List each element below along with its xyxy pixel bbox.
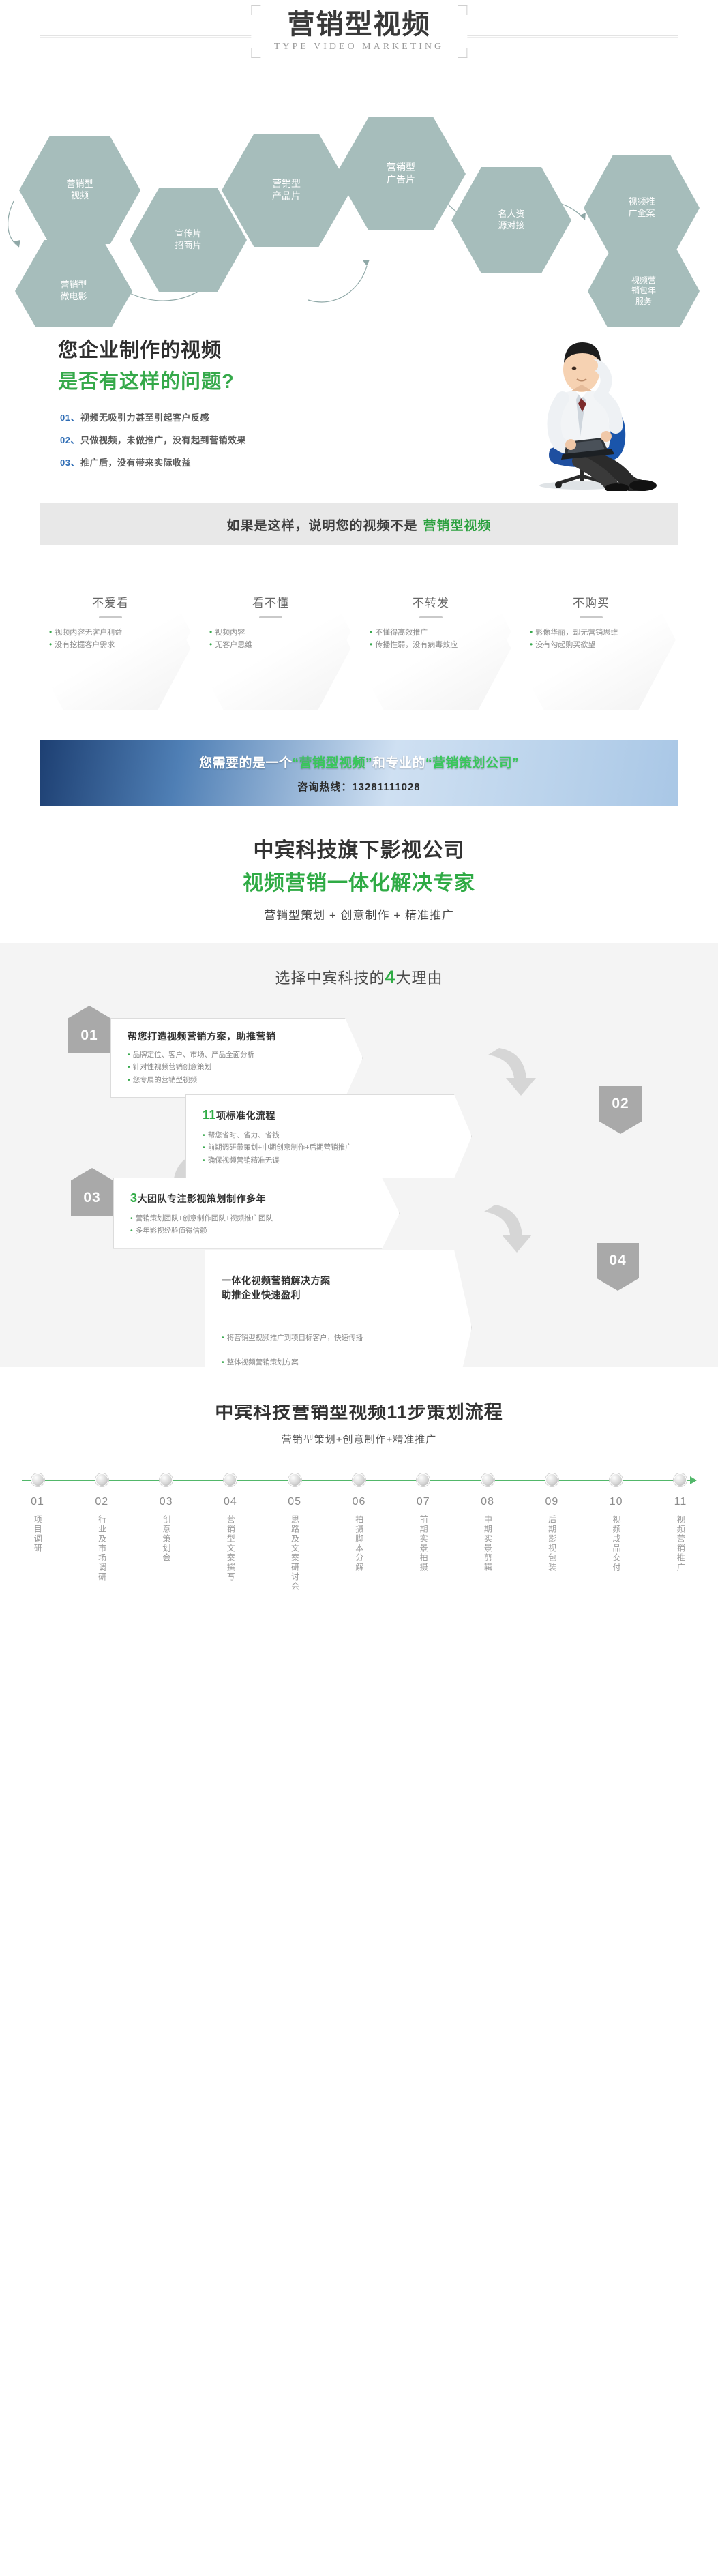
bullet-dot-icon: • xyxy=(49,639,52,651)
reason-card-02[interactable]: 11项标准化流程 •帮您省时、省力、省钱 •前期调研带策划+中期创意制作+后期营… xyxy=(185,1094,472,1178)
steps-section: 中宾科技营销型视频11步策划流程 营销型策划+创意制作+精准推广 01 项目调研… xyxy=(0,1367,718,1625)
problem-hex-card-2[interactable]: 看不懂 •视频内容 •无客户思维 xyxy=(186,570,355,710)
bullet-dot-icon: • xyxy=(203,1129,205,1141)
reason-heading-number: 3 xyxy=(130,1191,138,1205)
bullet-dot-icon: • xyxy=(222,1332,224,1344)
list-item: •品牌定位、客户、市场、产品全面分析 xyxy=(128,1049,335,1061)
reasons-section: 选择中宾科技的4大理由 01 帮您打造视频营销方案，助推营销 •品牌定位、客户、… xyxy=(0,943,718,1367)
bullet-text: 不懂得高效推广 xyxy=(375,627,428,639)
corner-bracket-icon xyxy=(458,5,467,15)
step-item-04[interactable]: 04 营销型文案撰写 xyxy=(209,1473,252,1595)
bullet-dot-icon: • xyxy=(530,639,533,651)
bullet-dot-icon: • xyxy=(130,1225,133,1237)
problem-number: 02、 xyxy=(60,433,80,446)
bullet-text: 品牌定位、客户、市场、产品全面分析 xyxy=(133,1049,255,1061)
bullet-text: 视频内容 xyxy=(215,627,245,639)
divider xyxy=(419,616,443,618)
step-number: 06 xyxy=(338,1496,380,1508)
page-subtitle: TYPE VIDEO MARKETING xyxy=(274,42,444,53)
hex-label: 视频营销包年服务 xyxy=(627,275,660,307)
page-title: 营销型视频 xyxy=(274,10,444,40)
hex-label: 宣传片招商片 xyxy=(170,228,205,251)
badge-number: 03 xyxy=(83,1190,100,1206)
list-item: •帮您省时、省力、省钱 xyxy=(203,1129,444,1141)
reason-card-01[interactable]: 帮您打造视频营销方案，助推营销 •品牌定位、客户、市场、产品全面分析 •针对性视… xyxy=(110,1018,363,1098)
cta-headline: 您需要的是一个“营销型视频”和专业的“营销策划公司” xyxy=(199,753,519,771)
bullet-dot-icon: • xyxy=(370,627,372,639)
step-node-icon xyxy=(545,1473,558,1486)
problem-hex-card-3[interactable]: 不转发 •不懂得高效推广 •传播性弱，没有病毒效应 xyxy=(346,570,515,710)
step-number: 03 xyxy=(145,1496,188,1508)
hex-label: 名人资源对接 xyxy=(494,209,528,231)
header-title-box: 营销型视频 TYPE VIDEO MARKETING xyxy=(251,5,467,58)
hex-label: 营销型微电影 xyxy=(56,280,91,302)
bullet-dot-icon: • xyxy=(209,639,212,651)
list-item: •没有挖掘客户需求 xyxy=(49,639,172,651)
list-item: •多年影视经验值得信赖 xyxy=(130,1225,372,1237)
problem-hex-title: 不购买 xyxy=(530,593,653,610)
problem-text: 只做视频，未做推广，没有起到营销效果 xyxy=(80,433,246,446)
bullet-dot-icon: • xyxy=(128,1049,130,1061)
step-item-02[interactable]: 02 行业及市场调研 xyxy=(80,1473,123,1595)
badge-number: 01 xyxy=(80,1028,98,1044)
bullet-text: 将营销型视频推广到项目标客户，快速传播 xyxy=(227,1332,363,1344)
list-item: •无客户思维 xyxy=(209,639,332,651)
step-node-icon xyxy=(674,1473,687,1486)
step-label: 视频营销推广 xyxy=(674,1515,687,1572)
hex-service-1[interactable]: 营销型视频 xyxy=(19,136,140,244)
bullet-dot-icon: • xyxy=(203,1154,205,1167)
step-label: 中期实景剪辑 xyxy=(481,1515,494,1572)
problem-hex-title: 不爱看 xyxy=(49,593,172,610)
step-item-09[interactable]: 09 后期影视包装 xyxy=(530,1473,573,1595)
corner-bracket-icon xyxy=(251,5,260,15)
cta-highlight-1: “营销型视频” xyxy=(292,756,372,770)
reason-bullets: •帮您省时、省力、省钱 •前期调研带策划+中期创意制作+后期营销推广 •确保视频… xyxy=(203,1129,444,1167)
reason-heading: 3大团队专注影视策划制作多年 xyxy=(130,1189,372,1208)
problem-text: 视频无吸引力甚至引起客户反感 xyxy=(80,410,209,423)
list-item: •前期调研带策划+中期创意制作+后期营销推广 xyxy=(203,1141,444,1154)
businessman-illustration-icon xyxy=(479,327,677,491)
step-node-icon xyxy=(353,1473,365,1486)
corner-bracket-icon xyxy=(458,48,467,58)
step-label: 思路及文案研讨会 xyxy=(288,1515,301,1591)
step-item-06[interactable]: 06 拍摄脚本分解 xyxy=(338,1473,380,1595)
list-item: •您专属的营销型视频 xyxy=(128,1074,335,1086)
problem-hex-card-4[interactable]: 不购买 •影像华丽，却无营销思维 •没有勾起购买欲望 xyxy=(507,570,676,710)
reason-card-03[interactable]: 3大团队专注影视策划制作多年 •营销策划团队+创意制作团队+视频推广团队 •多年… xyxy=(113,1178,400,1249)
bullet-dot-icon: • xyxy=(222,1356,224,1368)
step-label: 后期影视包装 xyxy=(545,1515,558,1572)
divider xyxy=(99,616,122,618)
step-item-05[interactable]: 05 思路及文案研讨会 xyxy=(273,1473,316,1595)
bullet-dot-icon: • xyxy=(128,1061,130,1073)
problem-section: 您企业制作的视频 是否有这样的问题? 01、 视频无吸引力甚至引起客户反感 02… xyxy=(0,327,718,491)
company-line1: 中宾科技旗下影视公司 xyxy=(0,833,718,863)
step-node-icon xyxy=(31,1473,44,1486)
problem-hex-card-1[interactable]: 不爱看 •视频内容无客户利益 •没有挖掘客户需求 xyxy=(26,570,195,710)
reasons-title: 选择中宾科技的4大理由 xyxy=(0,966,718,988)
step-node-icon xyxy=(288,1473,301,1486)
bullet-text: 多年影视经验值得信赖 xyxy=(136,1225,207,1237)
corner-bracket-icon xyxy=(251,48,260,58)
hex-label: 视频推广全案 xyxy=(624,196,659,219)
bullet-text: 帮您省时、省力、省钱 xyxy=(208,1129,280,1141)
list-item: •整体视频营销策划方案 xyxy=(222,1356,444,1368)
hex-service-4[interactable]: 营销型广告片 xyxy=(336,117,466,230)
bullet-text: 针对性视频营销创意策划 xyxy=(133,1061,212,1073)
step-number: 09 xyxy=(530,1496,573,1508)
company-section: 中宾科技旗下影视公司 视频营销一体化解决专家 营销型策划 + 创意制作 + 精准… xyxy=(0,806,718,943)
badge-number: 02 xyxy=(612,1096,629,1112)
list-item: •将营销型视频推广到项目标客户，快速传播 xyxy=(222,1332,444,1344)
steps-row: 01 项目调研 02 行业及市场调研 03 创意策划会 04 营销型文案撰写 xyxy=(16,1473,702,1595)
bullet-text: 无客户思维 xyxy=(215,639,252,651)
grey-banner-section: 如果是这样，说明您的视频不是 营销型视频 xyxy=(0,503,718,545)
cta-hotline[interactable]: 咨询热线：13281111028 xyxy=(297,779,420,794)
reason-bullets: •品牌定位、客户、市场、产品全面分析 •针对性视频营销创意策划 •您专属的营销型… xyxy=(128,1049,335,1086)
bullet-text: 影像华丽，却无营销思维 xyxy=(535,627,618,639)
step-label: 创意策划会 xyxy=(160,1515,173,1563)
steps-track: 01 项目调研 02 行业及市场调研 03 创意策划会 04 营销型文案撰写 xyxy=(16,1473,702,1595)
step-number: 08 xyxy=(466,1496,509,1508)
list-item: •不懂得高效推广 xyxy=(370,627,492,639)
step-item-11[interactable]: 11 视频营销推广 xyxy=(659,1473,702,1595)
company-line2: 视频营销一体化解决专家 xyxy=(0,866,718,896)
list-item: •营销策划团队+创意制作团队+视频推广团队 xyxy=(130,1212,372,1225)
bullet-dot-icon: • xyxy=(49,627,52,639)
bullet-text: 您专属的营销型视频 xyxy=(133,1074,198,1086)
bullet-text: 没有挖掘客户需求 xyxy=(55,639,115,651)
step-number: 04 xyxy=(209,1496,252,1508)
step-node-icon xyxy=(224,1473,237,1486)
step-node-icon xyxy=(417,1473,430,1486)
bullet-text: 前期调研带策划+中期创意制作+后期营销推广 xyxy=(208,1141,353,1154)
service-hex-cloud: 营销型视频 宣传片招商片 营销型产品片 营销型广告片 名人资源对接 视频推广全案… xyxy=(0,95,718,327)
list-item: •视频内容 xyxy=(209,627,332,639)
list-item: •视频内容无客户利益 xyxy=(49,627,172,639)
problem-text: 推广后，没有带来实际收益 xyxy=(80,455,191,468)
company-line3: 营销型策划 + 创意制作 + 精准推广 xyxy=(0,905,718,923)
businessman-photo xyxy=(479,327,677,491)
step-number: 07 xyxy=(402,1496,445,1508)
bullet-text: 没有勾起购买欲望 xyxy=(535,639,595,651)
landing-page: 营销型视频 TYPE VIDEO MARKETING xyxy=(0,0,718,1625)
step-label: 视频成品交付 xyxy=(610,1515,623,1572)
bullet-dot-icon: • xyxy=(203,1141,205,1154)
grey-banner-text: 如果是这样，说明您的视频不是 xyxy=(226,515,417,534)
bullet-dot-icon: • xyxy=(370,639,372,651)
step-number: 01 xyxy=(16,1496,59,1508)
reasons-title-pre: 选择中宾科技的 xyxy=(275,970,385,987)
hex-label: 营销型视频 xyxy=(62,179,97,201)
step-label: 项目调研 xyxy=(31,1515,44,1553)
list-item: •传播性弱，没有病毒效应 xyxy=(370,639,492,651)
step-item-03[interactable]: 03 创意策划会 xyxy=(145,1473,188,1595)
cta-mid: 和专业的 xyxy=(372,756,425,770)
hex-label: 营销型产品片 xyxy=(268,178,305,203)
bullet-text: 整体视频营销策划方案 xyxy=(227,1356,299,1368)
bullet-dot-icon: • xyxy=(130,1212,133,1225)
cta-pre: 您需要的是一个 xyxy=(199,756,293,770)
cta-highlight-2: “营销策划公司” xyxy=(425,756,519,770)
divider xyxy=(580,616,603,618)
reason-heading: 帮您打造视频营销方案，助推营销 xyxy=(128,1030,335,1044)
bullet-text: 营销策划团队+创意制作团队+视频推广团队 xyxy=(136,1212,273,1225)
reason-heading: 一体化视频营销解决方案 助推企业快速盈利 xyxy=(222,1274,444,1302)
reason-bullets: •营销策划团队+创意制作团队+视频推广团队 •多年影视经验值得信赖 xyxy=(130,1212,372,1238)
reason-card-04[interactable]: 一体化视频营销解决方案 助推企业快速盈利 •将营销型视频推广到项目标客户，快速传… xyxy=(205,1250,472,1405)
reason-bullets: •将营销型视频推广到项目标客户，快速传播 •整体视频营销策划方案 xyxy=(222,1319,444,1381)
problem-number: 03、 xyxy=(60,455,80,468)
problem-hex-group: 不爱看 •视频内容无客户利益 •没有挖掘客户需求 看不懂 •视频内容 •无客户思… xyxy=(0,563,718,740)
step-label: 行业及市场调研 xyxy=(95,1515,108,1582)
step-node-icon xyxy=(160,1473,173,1486)
step-label: 营销型文案撰写 xyxy=(224,1515,237,1582)
reason-heading: 11项标准化流程 xyxy=(203,1106,444,1124)
grey-banner: 如果是这样，说明您的视频不是 营销型视频 xyxy=(40,503,678,545)
page-header: 营销型视频 TYPE VIDEO MARKETING xyxy=(0,0,718,95)
step-number: 05 xyxy=(273,1496,316,1508)
reasons-cards-wrap: 01 帮您打造视频营销方案，助推营销 •品牌定位、客户、市场、产品全面分析 •针… xyxy=(0,1006,718,1326)
badge-number: 04 xyxy=(609,1253,626,1269)
step-item-07[interactable]: 07 前期实景拍摄 xyxy=(402,1473,445,1595)
reason-heading-text: 项标准化流程 xyxy=(216,1110,275,1121)
bullet-text: 视频内容无客户利益 xyxy=(55,627,122,639)
list-item: •针对性视频营销创意策划 xyxy=(128,1061,335,1073)
step-label: 拍摄脚本分解 xyxy=(353,1515,365,1572)
list-item: •没有勾起购买欲望 xyxy=(530,639,653,651)
step-label: 前期实景拍摄 xyxy=(417,1515,430,1572)
reason-heading-text: 大团队专注影视策划制作多年 xyxy=(138,1193,267,1204)
list-item: •影像华丽，却无营销思维 xyxy=(530,627,653,639)
bullet-text: 确保视频营销精准无误 xyxy=(208,1154,280,1167)
hex-label: 营销型广告片 xyxy=(383,162,419,186)
step-node-icon xyxy=(610,1473,623,1486)
step-number: 11 xyxy=(659,1496,702,1508)
hex-service-2[interactable]: 宣传片招商片 xyxy=(130,188,247,292)
bullet-text: 传播性弱，没有病毒效应 xyxy=(375,639,458,651)
problem-hex-title: 看不懂 xyxy=(209,593,332,610)
bullet-dot-icon: • xyxy=(530,627,533,639)
reasons-title-post: 大理由 xyxy=(396,970,443,987)
list-item: •确保视频营销精准无误 xyxy=(203,1154,444,1167)
grey-banner-highlight: 营销型视频 xyxy=(423,515,492,534)
bullet-dot-icon: • xyxy=(209,627,212,639)
reason-heading-number: 11 xyxy=(203,1108,216,1122)
bullet-dot-icon: • xyxy=(128,1074,130,1086)
reasons-title-number: 4 xyxy=(385,967,395,987)
cta-banner[interactable]: 您需要的是一个“营销型视频”和专业的“营销策划公司” 咨询热线：13281111… xyxy=(40,740,678,806)
step-node-icon xyxy=(481,1473,494,1486)
step-item-10[interactable]: 10 视频成品交付 xyxy=(595,1473,638,1595)
step-node-icon xyxy=(95,1473,108,1486)
divider xyxy=(259,616,282,618)
steps-subtitle: 营销型策划+创意制作+精准推广 xyxy=(0,1432,718,1446)
step-number: 10 xyxy=(595,1496,638,1508)
step-number: 02 xyxy=(80,1496,123,1508)
hex-service-5[interactable]: 名人资源对接 xyxy=(451,167,571,273)
problem-number: 01、 xyxy=(60,410,80,423)
step-item-08[interactable]: 08 中期实景剪辑 xyxy=(466,1473,509,1595)
problem-hex-title: 不转发 xyxy=(370,593,492,610)
step-item-01[interactable]: 01 项目调研 xyxy=(16,1473,59,1595)
